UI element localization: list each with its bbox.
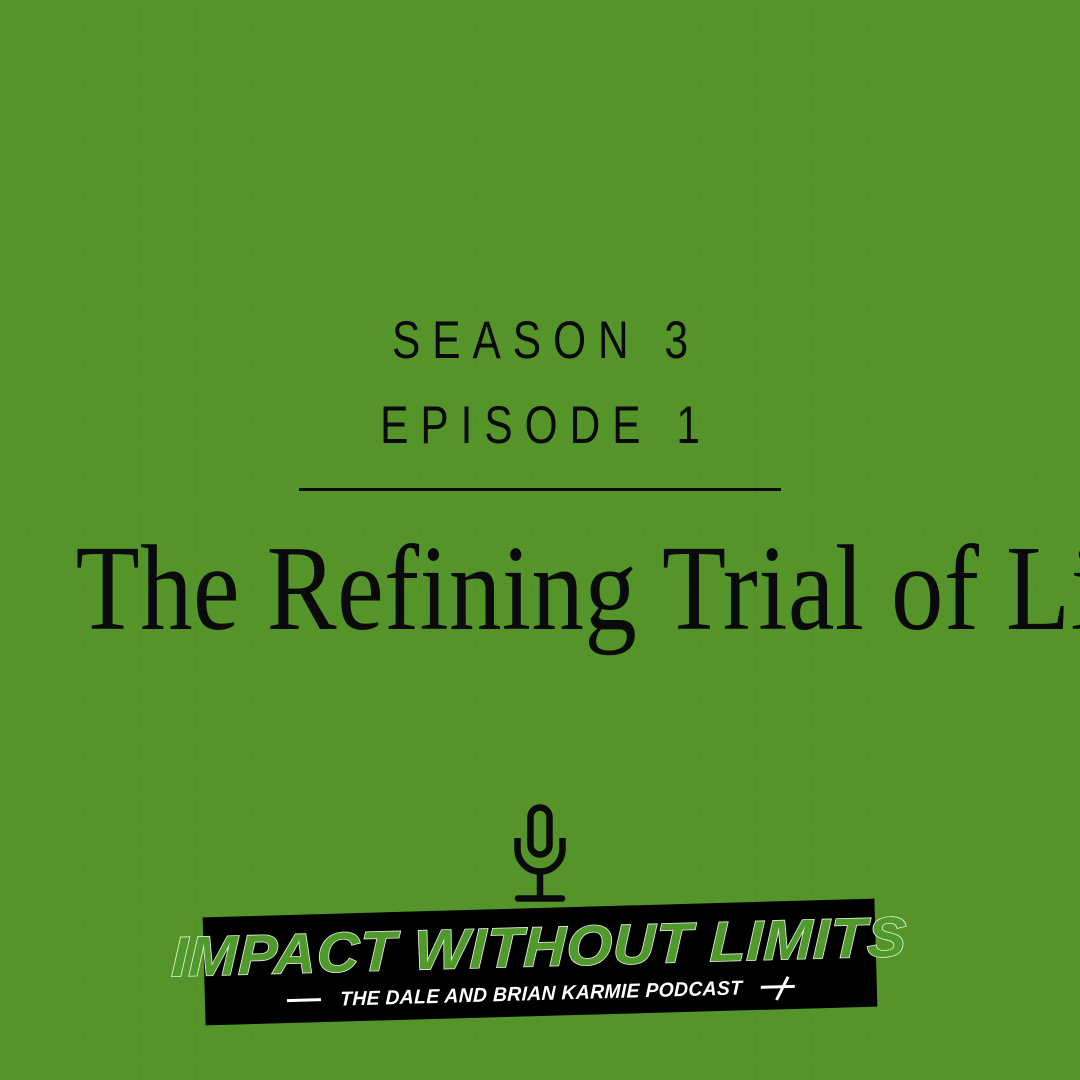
logo-dash-left	[287, 998, 321, 1001]
season-label: SEASON 3	[108, 305, 972, 377]
logo-wordmark: IMPACT WITHOUT LIMITS	[171, 907, 908, 986]
episode-label: EPISODE 1	[108, 390, 972, 462]
podcast-episode-cover: SEASON 3 EPISODE 1 The Refining Trial of…	[0, 0, 1080, 1080]
episode-title: The Refining Trial of Life	[76, 527, 1005, 651]
podcast-logo-badge: IMPACT WITHOUT LIMITS THE DALE AND BRIAN…	[203, 899, 878, 1026]
meta-divider	[299, 488, 781, 491]
microphone-icon	[508, 804, 572, 904]
episode-meta-block: SEASON 3 EPISODE 1	[0, 305, 1080, 491]
logo-dash-right	[761, 985, 795, 988]
